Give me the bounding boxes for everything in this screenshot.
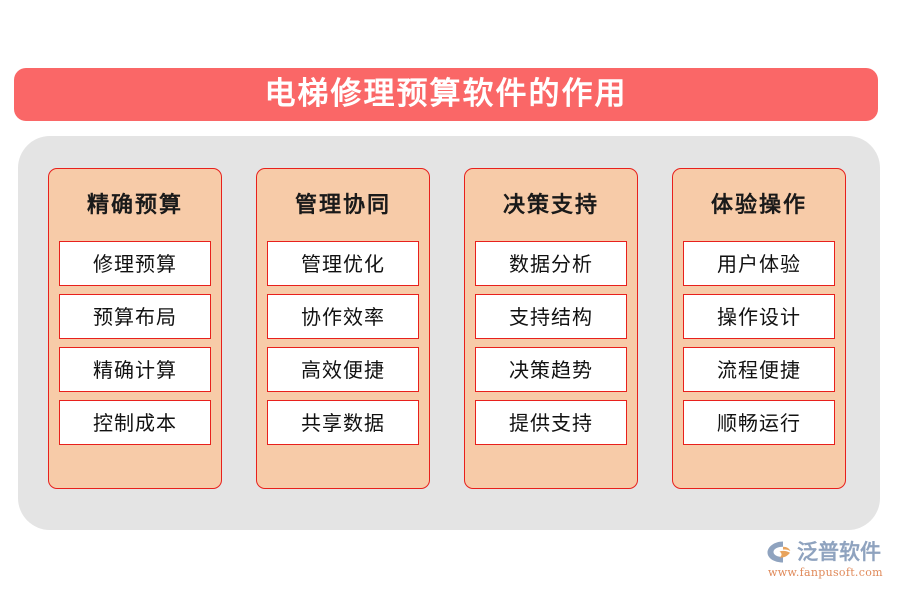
cell-label: 协作效率: [301, 307, 385, 327]
cell-label: 共享数据: [301, 413, 385, 433]
cell-label: 用户体验: [717, 254, 801, 274]
cell-item[interactable]: 控制成本: [59, 400, 211, 445]
brand-logo: 泛普软件 www.fanpusoft.com: [766, 540, 892, 586]
brand-row: 泛普软件: [766, 540, 881, 564]
cell-label: 精确计算: [93, 360, 177, 380]
cell-item[interactable]: 预算布局: [59, 294, 211, 339]
category-column-1: 精确预算 修理预算 预算布局 精确计算 控制成本: [48, 168, 222, 489]
brand-url: www.fanpusoft.com: [768, 567, 883, 578]
cell-item[interactable]: 精确计算: [59, 347, 211, 392]
brand-name: 泛普软件: [797, 542, 881, 563]
page-title: 电梯修理预算软件的作用: [265, 79, 628, 110]
fanpu-arc-logo-icon: [766, 540, 792, 564]
cell-item[interactable]: 提供支持: [475, 400, 627, 445]
column-cells-4: 用户体验 操作设计 流程便捷 顺畅运行: [683, 241, 835, 455]
column-cells-2: 管理优化 协作效率 高效便捷 共享数据: [267, 241, 419, 455]
cell-item[interactable]: 管理优化: [267, 241, 419, 286]
column-cells-1: 修理预算 预算布局 精确计算 控制成本: [59, 241, 211, 455]
column-cells-3: 数据分析 支持结构 决策趋势 提供支持: [475, 241, 627, 455]
cell-item[interactable]: 高效便捷: [267, 347, 419, 392]
cell-label: 操作设计: [717, 307, 801, 327]
cell-item[interactable]: 用户体验: [683, 241, 835, 286]
title-banner: 电梯修理预算软件的作用: [14, 68, 878, 121]
diagram-canvas: 电梯修理预算软件的作用 泛普软件 FANPU SOFTWARE 精确预算 修理预…: [0, 0, 900, 600]
cell-label: 高效便捷: [301, 360, 385, 380]
category-column-4: 体验操作 用户体验 操作设计 流程便捷 顺畅运行: [672, 168, 846, 489]
cell-item[interactable]: 操作设计: [683, 294, 835, 339]
cell-item[interactable]: 顺畅运行: [683, 400, 835, 445]
cell-item[interactable]: 流程便捷: [683, 347, 835, 392]
column-header-4: 体验操作: [711, 169, 807, 241]
cell-item[interactable]: 共享数据: [267, 400, 419, 445]
cell-item[interactable]: 决策趋势: [475, 347, 627, 392]
category-columns: 精确预算 修理预算 预算布局 精确计算 控制成本 管理协同 管理优化 协作效率 …: [48, 168, 846, 489]
cell-label: 顺畅运行: [717, 413, 801, 433]
cell-label: 数据分析: [509, 254, 593, 274]
column-header-2: 管理协同: [295, 169, 391, 241]
cell-label: 控制成本: [93, 413, 177, 433]
column-header-3: 决策支持: [503, 169, 599, 241]
column-header-1: 精确预算: [87, 169, 183, 241]
cell-label: 管理优化: [301, 254, 385, 274]
cell-label: 修理预算: [93, 254, 177, 274]
cell-item[interactable]: 数据分析: [475, 241, 627, 286]
cell-item[interactable]: 修理预算: [59, 241, 211, 286]
cell-label: 支持结构: [509, 307, 593, 327]
cell-label: 提供支持: [509, 413, 593, 433]
category-column-2: 管理协同 管理优化 协作效率 高效便捷 共享数据: [256, 168, 430, 489]
cell-item[interactable]: 支持结构: [475, 294, 627, 339]
cell-label: 决策趋势: [509, 360, 593, 380]
category-column-3: 决策支持 数据分析 支持结构 决策趋势 提供支持: [464, 168, 638, 489]
cell-label: 预算布局: [93, 307, 177, 327]
cell-label: 流程便捷: [717, 360, 801, 380]
cell-item[interactable]: 协作效率: [267, 294, 419, 339]
